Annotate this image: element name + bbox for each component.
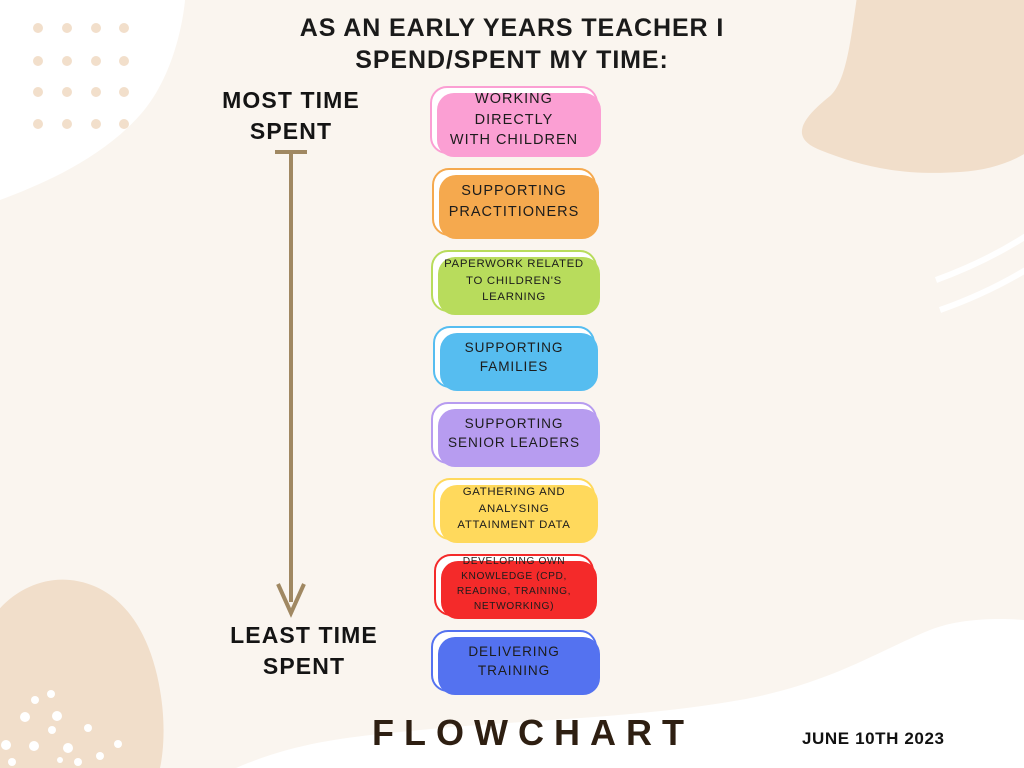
flow-box[interactable]: WORKING DIRECTLY WITH CHILDREN [430, 86, 598, 154]
flow-box-label: SUPPORTING FAMILIES [465, 338, 564, 377]
flow-box-label: WORKING DIRECTLY WITH CHILDREN [441, 89, 587, 151]
flow-box-label: GATHERING AND ANALYSING ATTAINMENT DATA [457, 484, 570, 534]
flow-box[interactable]: DEVELOPING OWN KNOWLEDGE (CPD, READING, … [434, 554, 594, 616]
flow-box-label: DELIVERING TRAINING [468, 642, 559, 681]
flow-box[interactable]: SUPPORTING FAMILIES [433, 326, 595, 388]
flow-box[interactable]: SUPPORTING PRACTITIONERS [432, 168, 596, 236]
flow-box[interactable]: GATHERING AND ANALYSING ATTAINMENT DATA [433, 478, 595, 540]
flow-box[interactable]: PAPERWORK RELATED TO CHILDREN'S LEARNING [431, 250, 597, 312]
flow-box-list: WORKING DIRECTLY WITH CHILDRENSUPPORTING… [424, 86, 604, 706]
footer-title: FLOWCHART [372, 712, 694, 754]
most-time-spent-label: MOST TIME SPENT [141, 85, 441, 147]
footer-date: JUNE 10TH 2023 [802, 729, 945, 749]
flow-box[interactable]: DELIVERING TRAINING [431, 630, 597, 692]
flowchart-poster: AS AN EARLY YEARS TEACHER I SPEND/SPENT … [0, 0, 1024, 768]
page-title: AS AN EARLY YEARS TEACHER I SPEND/SPENT … [0, 12, 1024, 76]
flow-box-label: PAPERWORK RELATED TO CHILDREN'S LEARNING [444, 256, 584, 306]
least-time-spent-label: LEAST TIME SPENT [154, 620, 454, 682]
flow-box-label: SUPPORTING PRACTITIONERS [449, 181, 580, 222]
down-arrow-icon [266, 150, 316, 620]
bottom-left-blob [0, 580, 164, 768]
flow-box-label: DEVELOPING OWN KNOWLEDGE (CPD, READING, … [457, 555, 571, 614]
scattered-dots [1, 690, 122, 766]
flow-box-label: SUPPORTING SENIOR LEADERS [448, 414, 580, 453]
flow-box[interactable]: SUPPORTING SENIOR LEADERS [431, 402, 597, 464]
